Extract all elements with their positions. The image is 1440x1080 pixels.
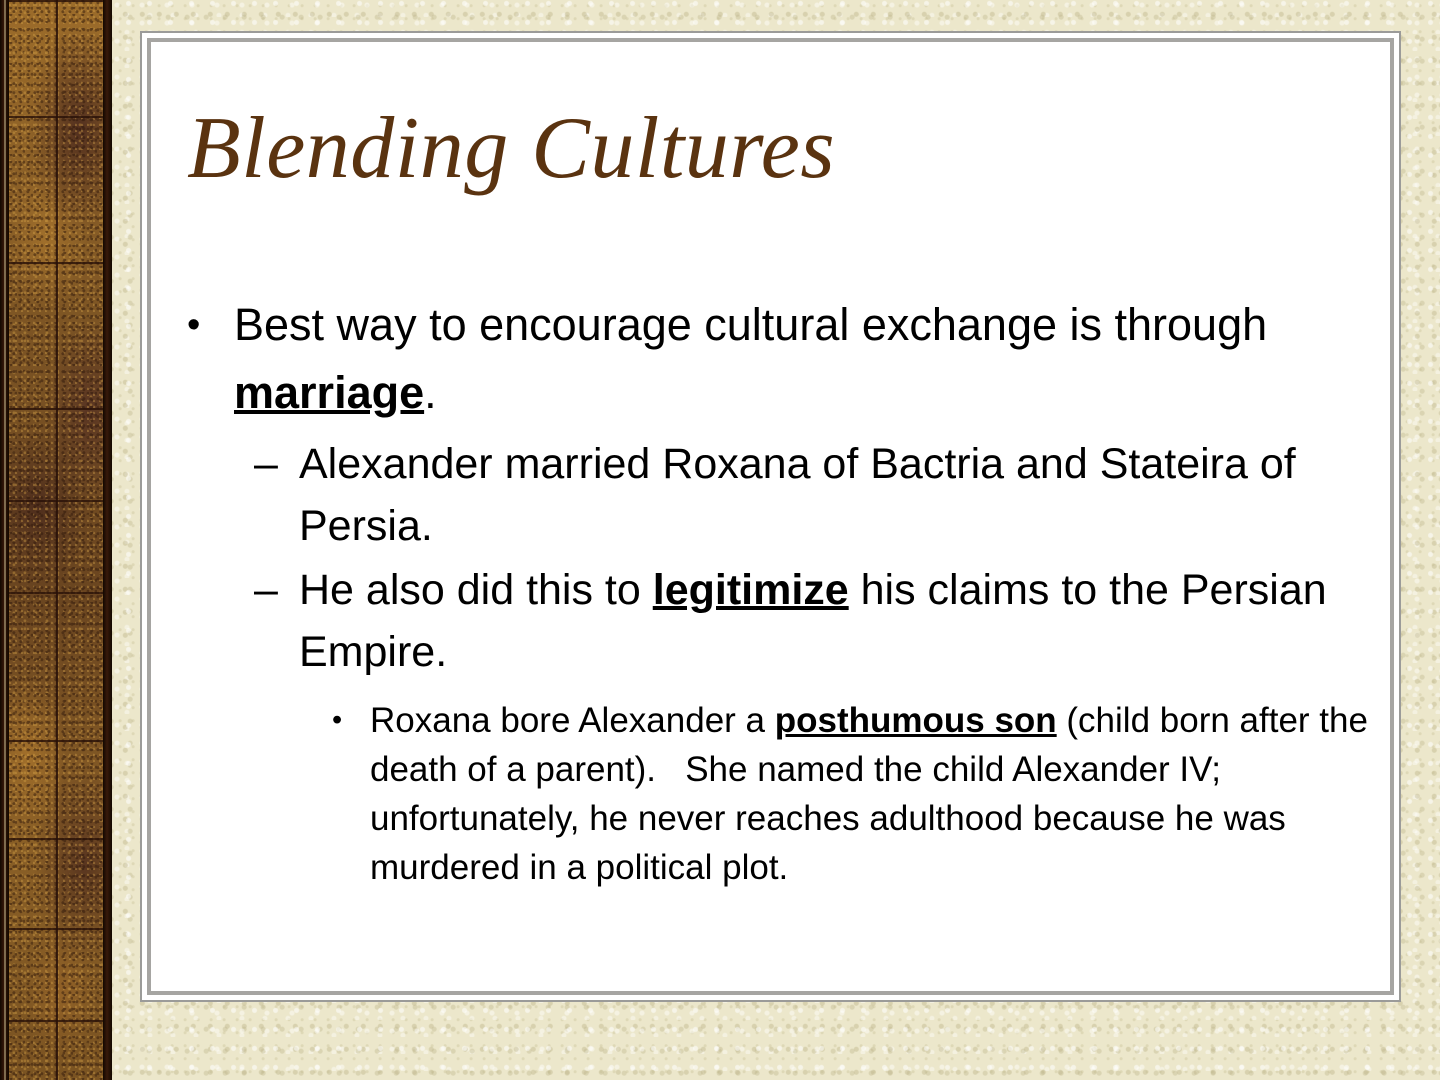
bullet-item-level-2: –He also did this to legitimize his clai… <box>142 559 1403 683</box>
grid-line-horizontal <box>9 592 103 594</box>
grid-line-horizontal <box>9 928 103 930</box>
grid-line-horizontal <box>9 262 103 264</box>
text-run: Best way to encourage cultural exchange … <box>234 299 1267 350</box>
text-run: Alexander married Roxana of Bactria and … <box>299 440 1296 550</box>
grid-line-vertical <box>56 0 58 1080</box>
bullet-item-level-3: •Roxana bore Alexander a posthumous son … <box>142 696 1403 892</box>
text-run: Roxana bore Alexander a <box>370 701 775 740</box>
strip-edge-right <box>103 0 112 1080</box>
slide-frame: Blending Cultures •Best way to encourage… <box>140 31 1401 1002</box>
grid-line-horizontal <box>9 408 103 410</box>
bullet-text: Best way to encourage cultural exchange … <box>234 291 1403 427</box>
text-run: . <box>424 367 437 418</box>
strip-edge-highlight <box>4 0 6 1080</box>
bullet-dash-icon: – <box>254 559 299 621</box>
bullet-text: He also did this to legitimize his claim… <box>299 559 1403 683</box>
emphasized-term: legitimize <box>653 566 849 614</box>
marble-grid-lines <box>9 0 103 1080</box>
bullet-text: Alexander married Roxana of Bactria and … <box>299 433 1403 557</box>
grid-line-horizontal <box>9 0 103 2</box>
bullet-item-level-1: •Best way to encourage cultural exchange… <box>142 291 1403 427</box>
grid-line-horizontal <box>9 740 103 742</box>
slide-title: Blending Cultures <box>187 105 835 193</box>
bullet-text: Roxana bore Alexander a posthumous son (… <box>370 696 1403 892</box>
grid-line-horizontal <box>9 500 103 502</box>
decorative-marble-border <box>0 0 112 1080</box>
emphasized-term: marriage <box>234 367 424 418</box>
text-run: He also did this to <box>299 566 653 614</box>
bullet-disc-small-icon: • <box>332 696 370 745</box>
grid-line-horizontal <box>9 1020 103 1022</box>
emphasized-term: posthumous son <box>775 701 1057 740</box>
grid-line-horizontal <box>9 116 103 118</box>
slide-content-area: Blending Cultures •Best way to encourage… <box>142 33 1403 1004</box>
slide-body-bullet-list: •Best way to encourage cultural exchange… <box>142 291 1403 892</box>
grid-line-horizontal <box>9 838 103 840</box>
bullet-disc-icon: • <box>187 291 234 359</box>
bullet-item-level-2: –Alexander married Roxana of Bactria and… <box>142 433 1403 557</box>
bullet-dash-icon: – <box>254 433 299 495</box>
